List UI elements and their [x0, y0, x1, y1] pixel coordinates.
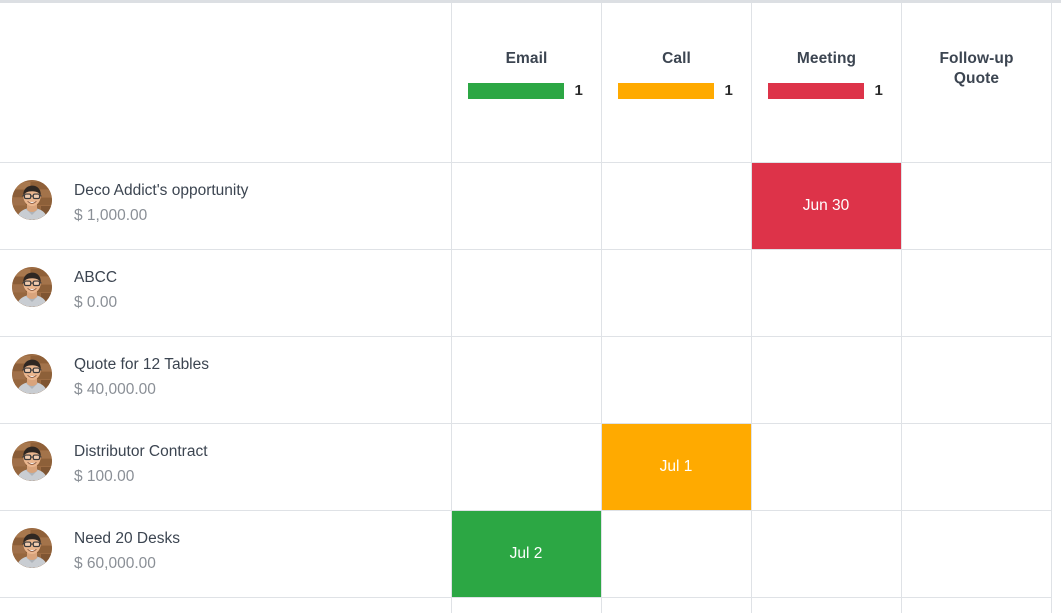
- activity-date-chip[interactable]: Jul 2: [452, 511, 601, 597]
- pipeline-activity-grid: Email1Call1Meeting1Follow-up Quote Deco …: [0, 0, 1061, 613]
- stage-cell[interactable]: [901, 597, 1051, 613]
- activity-date-chip[interactable]: Jul 1: [602, 424, 751, 510]
- table-row[interactable]: Need 20 Desks$ 60,000.00Jul 2: [0, 510, 1051, 597]
- stage-meter-count: 1: [875, 83, 883, 98]
- stage-cell[interactable]: Jul 1: [601, 423, 751, 510]
- stage-title: Email: [468, 49, 586, 69]
- stage-cell[interactable]: [751, 249, 901, 336]
- stage-cell[interactable]: [901, 249, 1051, 336]
- header-row: Email1Call1Meeting1Follow-up Quote: [0, 3, 1051, 162]
- stage-cell[interactable]: Jul 2: [451, 510, 601, 597]
- opportunity-text: Quote for 12 Tables$ 40,000.00: [74, 354, 209, 400]
- stage-cell[interactable]: [601, 162, 751, 249]
- header-stage-meeting[interactable]: Meeting1: [751, 3, 901, 162]
- opportunity-amount: $ 100.00: [74, 467, 208, 486]
- stage-cell[interactable]: [601, 510, 751, 597]
- opportunity-text: Distributor Contract$ 100.00: [74, 441, 208, 487]
- opportunity-cell[interactable]: Deco Addict's opportunity$ 1,000.00: [0, 162, 451, 249]
- stage-meter-bar: [768, 83, 864, 99]
- stage-title: Call: [618, 49, 736, 69]
- header-stage-follow-up-quote[interactable]: Follow-up Quote: [901, 3, 1051, 162]
- opportunity-inner: Quote for 12 Tables$ 40,000.00: [0, 337, 451, 400]
- stage-cell[interactable]: [451, 336, 601, 423]
- opportunity-amount: $ 1,000.00: [74, 206, 248, 225]
- stage-head-inner: Follow-up Quote: [902, 3, 1051, 89]
- opportunity-inner: Need 20 Desks$ 60,000.00: [0, 511, 451, 574]
- stage-title: Follow-up Quote: [918, 49, 1036, 89]
- opportunity-title: Distributor Contract: [74, 442, 208, 461]
- stage-cell[interactable]: [451, 162, 601, 249]
- opportunity-amount: $ 0.00: [74, 293, 117, 312]
- header-stage-call[interactable]: Call1: [601, 3, 751, 162]
- opportunity-inner: Deco Addict's opportunity$ 1,000.00: [0, 163, 451, 226]
- stage-head-inner: Call1: [602, 3, 751, 99]
- stage-cell[interactable]: [601, 597, 751, 613]
- opportunity-cell[interactable]: [0, 597, 451, 613]
- stage-cell[interactable]: [901, 423, 1051, 510]
- stage-meter: 1: [618, 83, 751, 99]
- stage-meter: 1: [768, 83, 901, 99]
- stage-cell[interactable]: [751, 510, 901, 597]
- opportunity-title: ABCC: [74, 268, 117, 287]
- opportunity-inner: Distributor Contract$ 100.00: [0, 424, 451, 487]
- header-opportunity-column: [0, 3, 451, 162]
- stage-head-inner: Meeting1: [752, 3, 901, 99]
- opportunity-title: Deco Addict's opportunity: [74, 181, 248, 200]
- stage-cell[interactable]: [751, 597, 901, 613]
- avatar[interactable]: [12, 354, 52, 394]
- opportunity-cell[interactable]: ABCC$ 0.00: [0, 249, 451, 336]
- opportunity-text: ABCC$ 0.00: [74, 267, 117, 313]
- table-row[interactable]: Distributor Contract$ 100.00Jul 1: [0, 423, 1051, 510]
- table-row[interactable]: Quote for 12 Tables$ 40,000.00: [0, 336, 1051, 423]
- avatar[interactable]: [12, 180, 52, 220]
- opportunity-text: Deco Addict's opportunity$ 1,000.00: [74, 180, 248, 226]
- activity-date-chip[interactable]: Jun 30: [752, 163, 901, 249]
- stage-cell[interactable]: Jun 30: [751, 162, 901, 249]
- opportunity-cell[interactable]: Distributor Contract$ 100.00: [0, 423, 451, 510]
- opportunity-cell[interactable]: Quote for 12 Tables$ 40,000.00: [0, 336, 451, 423]
- opportunity-inner: ABCC$ 0.00: [0, 250, 451, 313]
- header-stage-email[interactable]: Email1: [451, 3, 601, 162]
- stage-cell[interactable]: [451, 423, 601, 510]
- grid-body: Deco Addict's opportunity$ 1,000.00Jun 3…: [0, 162, 1051, 613]
- stage-cell[interactable]: [601, 336, 751, 423]
- stage-cell[interactable]: [451, 249, 601, 336]
- stage-cell[interactable]: [751, 336, 901, 423]
- table-row[interactable]: [0, 597, 1051, 613]
- opportunity-title: Quote for 12 Tables: [74, 355, 209, 374]
- stage-title: Meeting: [768, 49, 886, 69]
- opportunity-cell[interactable]: Need 20 Desks$ 60,000.00: [0, 510, 451, 597]
- table-row[interactable]: ABCC$ 0.00: [0, 249, 1051, 336]
- stage-meter-bar: [468, 83, 564, 99]
- stage-meter-bar: [618, 83, 714, 99]
- stage-meter: 1: [468, 83, 601, 99]
- activity-grid-table: Email1Call1Meeting1Follow-up Quote Deco …: [0, 3, 1052, 613]
- stage-cell[interactable]: [901, 162, 1051, 249]
- opportunity-text: Need 20 Desks$ 60,000.00: [74, 528, 180, 574]
- stage-cell[interactable]: [751, 423, 901, 510]
- stage-cell[interactable]: [901, 336, 1051, 423]
- table-row[interactable]: Deco Addict's opportunity$ 1,000.00Jun 3…: [0, 162, 1051, 249]
- grid-header: Email1Call1Meeting1Follow-up Quote: [0, 3, 1051, 162]
- avatar[interactable]: [12, 441, 52, 481]
- stage-cell[interactable]: [901, 510, 1051, 597]
- avatar[interactable]: [12, 267, 52, 307]
- stage-head-inner: Email1: [452, 3, 601, 99]
- stage-cell[interactable]: [601, 249, 751, 336]
- stage-meter-count: 1: [725, 83, 733, 98]
- opportunity-title: Need 20 Desks: [74, 529, 180, 548]
- opportunity-amount: $ 60,000.00: [74, 554, 180, 573]
- stage-cell[interactable]: [451, 597, 601, 613]
- avatar[interactable]: [12, 528, 52, 568]
- stage-meter-count: 1: [575, 83, 583, 98]
- opportunity-amount: $ 40,000.00: [74, 380, 209, 399]
